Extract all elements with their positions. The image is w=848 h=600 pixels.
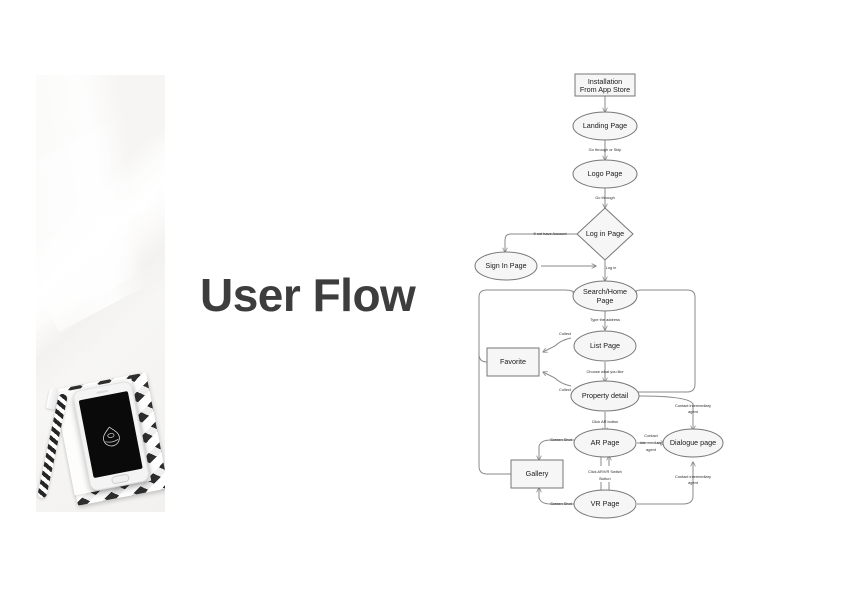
- edge-label-screenshot-vr: Screen Shot: [550, 501, 572, 506]
- edge-label-contact-top-line1: Contact intermediary: [675, 403, 711, 408]
- edge-login-signin: [505, 234, 577, 252]
- edge-label-go-through-skip: Go through or Skip: [589, 147, 622, 152]
- node-search-home-page[interactable]: Search/Home Page: [573, 281, 637, 311]
- node-label-favorite: Favorite: [500, 357, 526, 366]
- page-title: User Flow: [200, 268, 415, 322]
- edge-label-no-account: If not have Account: [533, 231, 567, 236]
- node-logo-page[interactable]: Logo Page: [573, 160, 637, 188]
- node-label-installation-line2: From App Store: [580, 85, 630, 94]
- cover-photo: [36, 75, 165, 512]
- app-logo-icon: [96, 421, 126, 451]
- edge-label-contact-mid-line2: intermediary: [640, 440, 661, 445]
- node-label-search-home-line1: Search/Home: [583, 287, 627, 296]
- edge-gallery-search: [479, 297, 511, 474]
- phone-earpiece: [96, 389, 108, 393]
- node-sign-in-page[interactable]: Sign In Page: [475, 252, 537, 280]
- edge-label-collect-list: Collect: [559, 331, 572, 336]
- node-label-ar-page: AR Page: [591, 438, 620, 447]
- node-vr-page[interactable]: VR Page: [574, 490, 636, 518]
- phone-home-button: [111, 473, 130, 484]
- edge-property-dialogue: [639, 396, 693, 430]
- node-label-landing-page: Landing Page: [583, 121, 627, 130]
- node-label-dialogue-page: Dialogue page: [670, 438, 716, 447]
- edge-ar-gallery: [539, 440, 575, 460]
- node-landing-page[interactable]: Landing Page: [573, 112, 637, 140]
- edge-label-contact-bot-line2: agent: [688, 480, 699, 485]
- phone-screen: [79, 391, 143, 478]
- node-label-vr-page: VR Page: [591, 499, 620, 508]
- node-label-search-home-line2: Page: [597, 296, 614, 305]
- node-favorite[interactable]: Favorite: [487, 348, 539, 376]
- node-ar-page[interactable]: AR Page: [574, 429, 636, 457]
- edge-label-click-ar: Click AR button: [592, 419, 619, 424]
- edge-label-contact-top-line2: agent: [688, 409, 699, 414]
- node-label-sign-in-page: Sign In Page: [485, 261, 526, 270]
- edge-label-go-through: Go through: [595, 195, 614, 200]
- edge-vr-dialogue: [637, 462, 693, 504]
- node-dialogue-page[interactable]: Dialogue page: [663, 429, 723, 457]
- node-login-page[interactable]: Log in Page: [577, 208, 633, 260]
- node-list-page[interactable]: List Page: [574, 331, 636, 361]
- node-label-gallery: Gallery: [526, 469, 549, 478]
- edge-label-contact-bot-line1: Contact intermediary: [675, 474, 711, 479]
- edge-label-contact-mid-line3: agent: [646, 447, 657, 452]
- edge-label-type-address: Type the address: [590, 317, 620, 322]
- node-label-login-page: Log in Page: [586, 229, 624, 238]
- node-gallery[interactable]: Gallery: [511, 460, 563, 488]
- node-property-detail[interactable]: Property detail: [571, 381, 639, 411]
- edge-label-choose: Choose what you like: [587, 369, 624, 374]
- edge-label-switch-line1: Click AR/VR Switch: [588, 469, 622, 474]
- edge-label-switch-line2: Button: [599, 476, 610, 481]
- node-label-logo-page: Logo Page: [588, 169, 623, 178]
- node-label-list-page: List Page: [590, 341, 620, 350]
- user-flow-diagram: Go through or Skip Go through If not hav…: [465, 62, 760, 527]
- edge-list-favorite: [543, 338, 571, 352]
- node-installation[interactable]: Installation From App Store: [575, 74, 635, 96]
- edge-property-favorite: [543, 372, 571, 386]
- edge-label-screenshot-ar: Screen Shot: [550, 437, 572, 442]
- edge-property-search: [633, 290, 695, 392]
- node-label-property-detail: Property detail: [582, 391, 629, 400]
- edge-label-login: Log in: [606, 265, 617, 270]
- edge-label-collect-property: Collect: [559, 387, 572, 392]
- edge-label-contact-mid-line1: Contact: [644, 433, 658, 438]
